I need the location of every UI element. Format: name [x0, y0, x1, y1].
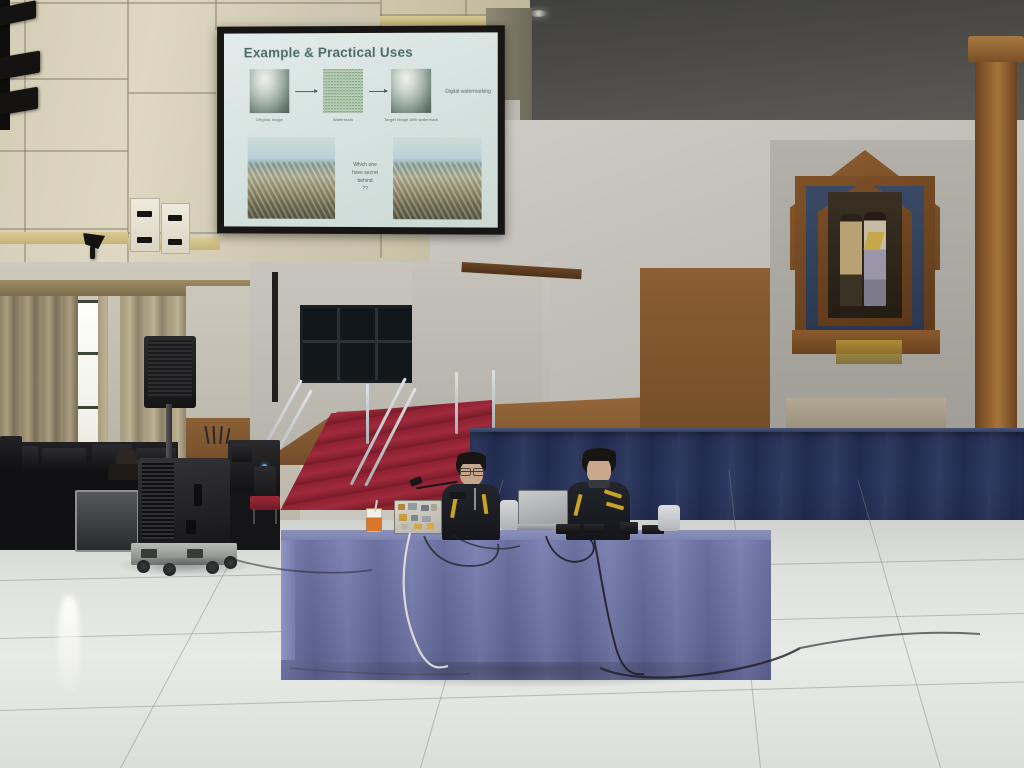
handrail-post — [492, 370, 495, 428]
floral-offering — [836, 340, 902, 364]
lanyard — [474, 488, 476, 510]
handrail-post — [455, 372, 458, 434]
subwoofer-port — [186, 520, 196, 534]
slide-question-line: Which one — [341, 161, 389, 169]
slide-image-original — [250, 69, 290, 113]
subwoofer-handle — [194, 484, 202, 506]
collar — [588, 480, 610, 488]
laptop-sticker — [401, 524, 408, 529]
slide-caption-watermark: Watermark — [311, 117, 375, 122]
hair-fringe — [457, 452, 486, 464]
subwoofer-vent — [142, 463, 174, 540]
white-chair-back — [500, 500, 518, 530]
audio-interface — [556, 524, 580, 534]
table-floor-shadow — [289, 662, 759, 688]
slide-image-watermark — [323, 69, 363, 113]
slide-question: Which one have secret behind ?? — [341, 161, 389, 193]
laptop-sticker — [398, 504, 405, 510]
slide-caption-target: Target image with watermark — [379, 117, 443, 122]
storage-box — [130, 198, 160, 252]
laptop-sticker — [414, 524, 422, 529]
floor-reflection — [58, 596, 80, 692]
laptop-lid — [518, 490, 568, 528]
audio-interface — [584, 524, 604, 533]
audio-interface — [620, 522, 638, 534]
conference-hall-photo: Example & Practical Uses Original Image … — [0, 0, 1024, 768]
portrait-figure-left — [840, 214, 862, 306]
arrow-icon — [295, 91, 317, 92]
white-chair-back — [658, 505, 680, 531]
slide-content: Example & Practical Uses Original Image … — [224, 32, 498, 227]
glasses-lens — [473, 468, 484, 476]
subwoofer — [138, 458, 230, 546]
dark-window — [300, 305, 416, 383]
red-stacking-chair — [250, 466, 280, 524]
slide-photo-right — [393, 137, 482, 219]
monitor-speaker — [0, 436, 22, 472]
slide-question-line: behind — [341, 177, 389, 185]
top-speaker — [144, 336, 196, 408]
stack-floor-shadow — [120, 558, 250, 576]
stage-light-icon — [90, 246, 95, 259]
laptop-sticker — [422, 516, 431, 522]
royal-portrait — [828, 192, 902, 318]
sticker-covered-laptop — [394, 500, 440, 532]
slide-question-line: ?? — [341, 185, 389, 193]
laptop-sticker — [431, 504, 437, 511]
laptop-sticker — [399, 514, 407, 521]
speaker-pole — [166, 404, 172, 462]
laptop-sticker — [411, 515, 418, 521]
laptop-sticker — [408, 503, 417, 510]
table-drape-folds — [281, 540, 771, 680]
handrail-post — [366, 384, 369, 444]
downlight-icon — [530, 10, 547, 17]
glasses-lens — [460, 468, 471, 476]
flight-case-front — [75, 490, 139, 552]
portrait-figure-right — [864, 212, 886, 306]
slide-caption-original: Original Image — [238, 117, 301, 122]
chair-seat — [250, 496, 280, 510]
table-drape-left-edge — [281, 540, 295, 660]
arrow-icon — [369, 91, 387, 92]
hair-fringe — [583, 448, 616, 461]
storage-box — [161, 203, 190, 254]
microphone-base — [450, 492, 466, 499]
speaker-grille — [148, 340, 192, 398]
slide-photo-left — [248, 137, 335, 219]
wooden-column — [975, 40, 1017, 450]
presenter-table — [281, 540, 771, 680]
mixer-unit — [42, 448, 86, 468]
laptop-sticker — [427, 523, 434, 529]
column-capital — [968, 36, 1024, 62]
projection-screen: Example & Practical Uses Original Image … — [217, 25, 505, 234]
laptop-sticker — [421, 505, 429, 511]
wall-black-strip — [272, 272, 278, 402]
slide-title: Example & Practical Uses — [244, 45, 413, 61]
chair-back — [254, 466, 276, 496]
slide-image-target — [391, 69, 431, 113]
slide-annotation-watermarking: Digital watermarking — [445, 89, 491, 95]
slide-question-line: have secret — [341, 169, 389, 177]
